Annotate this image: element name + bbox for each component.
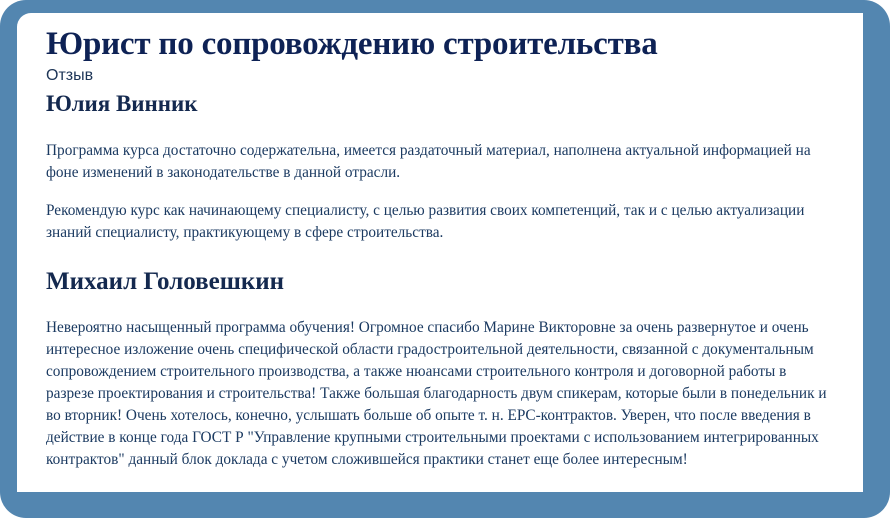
outer-blue-frame: Юрист по сопровождению строительства Отз… <box>0 0 890 518</box>
review-paragraph: Невероятно насыщенный программа обучения… <box>46 317 836 471</box>
page-title: Юрист по сопровождению строительства <box>46 25 836 63</box>
review-author-2: Михаил Головешкин <box>46 266 836 297</box>
review-paragraph: Рекомендую курс как начинающему специали… <box>46 200 836 244</box>
document-content: Юрист по сопровождению строительства Отз… <box>46 25 836 471</box>
review-paragraph: Программа курса достаточно содержательна… <box>46 140 836 184</box>
review-author-1: Юлия Винник <box>46 89 836 118</box>
document-card: Юрист по сопровождению строительства Отз… <box>17 13 863 492</box>
page-subtitle: Отзыв <box>46 65 836 86</box>
